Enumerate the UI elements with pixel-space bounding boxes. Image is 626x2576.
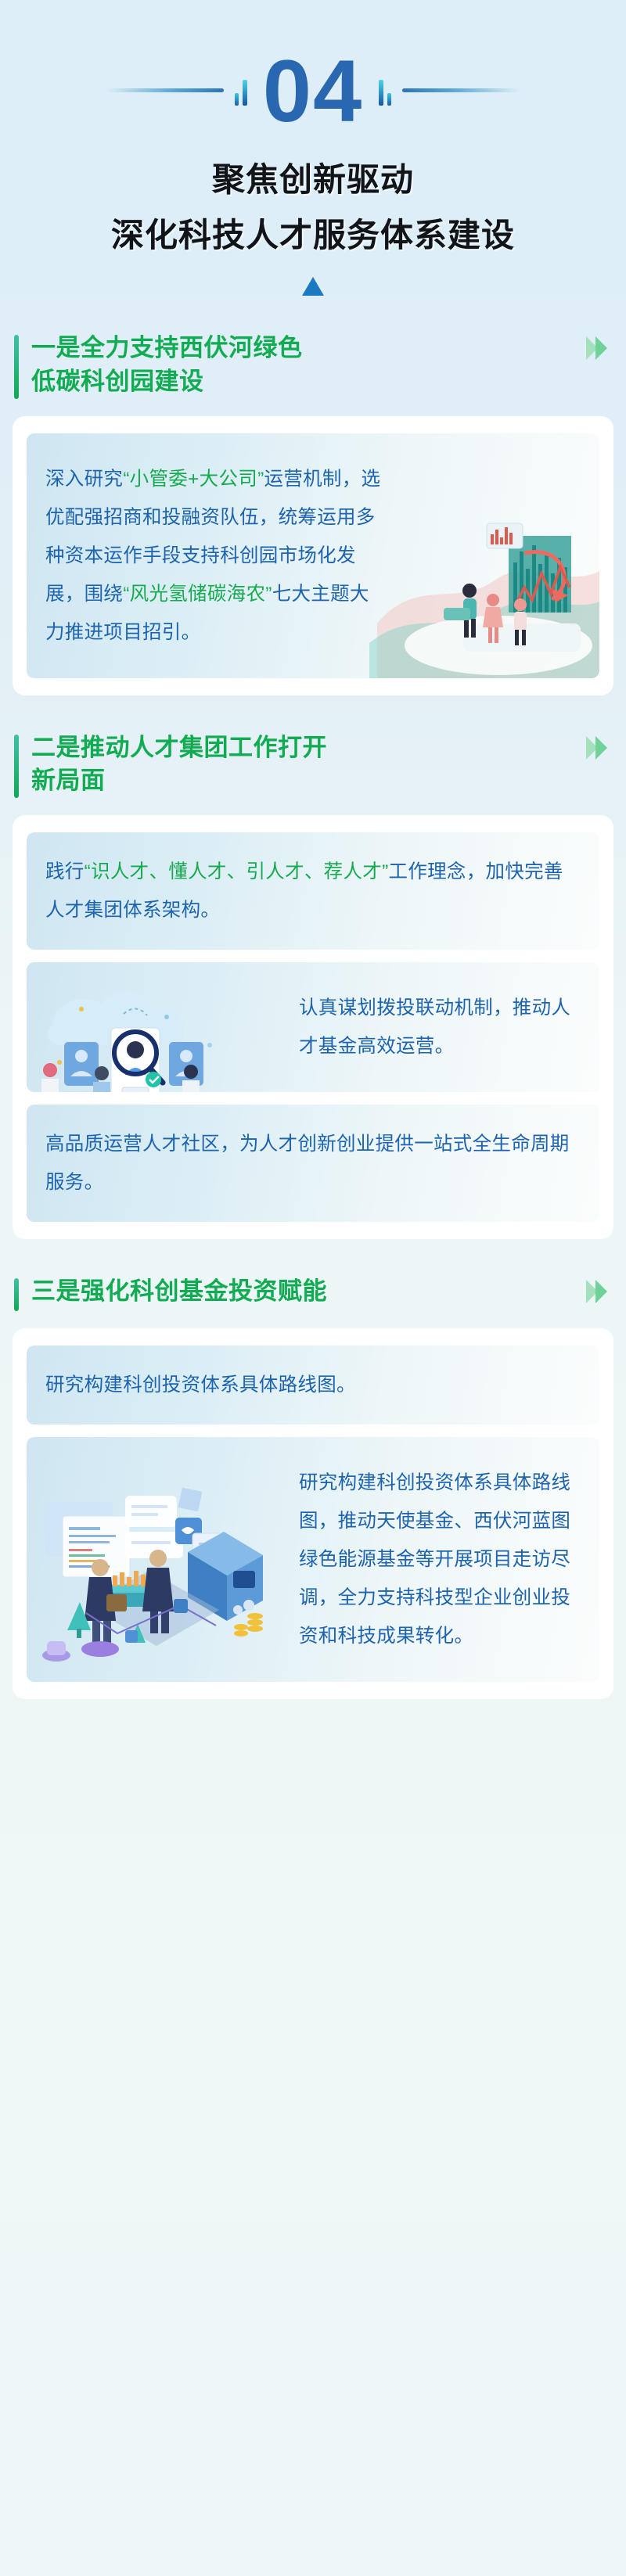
infographic-page: 04 聚焦创新驱动 深化科技人才服务体系建设 一是全力支持西伏河绿色低碳科创园建…	[0, 0, 626, 2576]
card-paragraph: 研究构建科创投资体系具体路线图。	[45, 1366, 581, 1404]
card-paragraph: 认真谋划拨投联动机制，推动人才基金高效运营。	[299, 989, 581, 1065]
page-title-line-1: 聚焦创新驱动	[0, 153, 626, 201]
card-body: 研究构建科创投资体系具体路线图，推动天使基金、西伏河蓝图绿色能源基金等开展项目走…	[27, 1437, 599, 1682]
content-card: 践行“识人才、懂人才、引人才、荐人才”工作理念，加快完善人才集团体系架构。	[27, 832, 599, 950]
section-heading-line-2: 新局面	[31, 764, 586, 798]
highlighted-phrase: “识人才、懂人才、引人才、荐人才”	[85, 861, 389, 882]
card-body: 践行“识人才、懂人才、引人才、荐人才”工作理念，加快完善人才集团体系架构。	[27, 832, 599, 950]
card-body: 深入研究“小管委+大公司”运营机制，选优配强招商和投融资队伍，统筹运用多种资本运…	[27, 433, 599, 678]
triangle-up-icon	[302, 277, 324, 296]
tick-small-icon	[235, 93, 239, 106]
chevron-double-right-icon	[586, 736, 607, 760]
number-decoration-row: 04	[0, 47, 626, 133]
section-heading-line-1: 三是强化科创基金投资赋能	[31, 1275, 586, 1309]
section-heading-line-2: 低碳科创园建设	[31, 365, 586, 399]
body-phrase: 深入研究	[45, 469, 123, 490]
section-heading-text: 一是全力支持西伏河绿色低碳科创园建设	[31, 332, 586, 399]
chevron-double-right-icon	[586, 1280, 607, 1303]
section-heading-text: 二是推动人才集团工作打开新局面	[31, 731, 586, 799]
right-tick-marks	[368, 74, 402, 106]
triangle-divider	[0, 277, 626, 296]
highlighted-phrase: “风光氢储碳海农”	[123, 584, 272, 605]
content-card: 深入研究“小管委+大公司”运营机制，选优配强招商和投融资队伍，统筹运用多种资本运…	[27, 433, 599, 678]
page-title-line-2: 深化科技人才服务体系建设	[0, 209, 626, 257]
card-paragraph: 高品质运营人才社区，为人才创新创业提供一站式全生命周期服务。	[45, 1125, 581, 1202]
right-rule-line	[402, 88, 520, 92]
body-phrase: 研究构建科创投资体系具体路线图。	[45, 1374, 356, 1396]
highlighted-phrase: “小管委+大公司”	[123, 469, 264, 490]
section-header-2: 二是推动人才集团工作打开新局面	[0, 731, 626, 799]
sections-container: 一是全力支持西伏河绿色低碳科创园建设 深入研究“小管委+大公司”运营机制，选优配…	[0, 332, 626, 1699]
card-body: 高品质运营人才社区，为人才创新创业提供一站式全生命周期服务。	[27, 1105, 599, 1222]
chevron-right-icon	[595, 336, 607, 360]
body-phrase: 认真谋划拨投联动机制，推动人才基金高效运营。	[299, 997, 570, 1057]
card-paragraph: 践行“识人才、懂人才、引人才、荐人才”工作理念，加快完善人才集团体系架构。	[45, 853, 581, 929]
hero-header: 04 聚焦创新驱动 深化科技人才服务体系建设	[0, 0, 626, 296]
section-heading-text: 三是强化科创基金投资赋能	[31, 1275, 586, 1309]
section-accent-bar	[14, 335, 19, 399]
tick-large-icon	[379, 80, 383, 106]
content-card: 高品质运营人才社区，为人才创新创业提供一站式全生命周期服务。	[27, 1105, 599, 1222]
content-card: 研究构建科创投资体系具体路线图，推动天使基金、西伏河蓝图绿色能源基金等开展项目走…	[27, 1437, 599, 1682]
left-tick-marks	[224, 74, 258, 106]
body-phrase: 研究构建科创投资体系具体路线图，推动天使基金、西伏河蓝图绿色能源基金等开展项目走…	[299, 1472, 570, 1647]
tick-large-icon	[243, 80, 247, 106]
card-paragraph: 研究构建科创投资体系具体路线图，推动天使基金、西伏河蓝图绿色能源基金等开展项目走…	[299, 1464, 581, 1655]
chevron-double-right-icon	[586, 336, 607, 360]
section-header-1: 一是全力支持西伏河绿色低碳科创园建设	[0, 332, 626, 399]
chevron-right-icon	[595, 1280, 607, 1303]
chevron-right-icon	[595, 736, 607, 760]
card-body: 认真谋划拨投联动机制，推动人才基金高效运营。	[27, 962, 599, 1092]
section-accent-bar	[14, 1278, 19, 1311]
section-panel-2: 践行“识人才、懂人才、引人才、荐人才”工作理念，加快完善人才集团体系架构。 认真…	[13, 815, 613, 1239]
section-panel-3: 研究构建科创投资体系具体路线图。 研究构建科创投资体系具体路线图，推	[13, 1328, 613, 1699]
section-heading-line-1: 一是全力支持西伏河绿色	[31, 332, 586, 365]
section-heading-line-1: 二是推动人才集团工作打开	[31, 731, 586, 765]
card-paragraph: 深入研究“小管委+大公司”运营机制，选优配强招商和投融资队伍，统筹运用多种资本运…	[45, 460, 382, 652]
left-rule-line	[106, 88, 224, 92]
section-accent-bar	[14, 735, 19, 799]
content-card: 研究构建科创投资体系具体路线图。	[27, 1345, 599, 1425]
section-header-3: 三是强化科创基金投资赋能	[0, 1275, 626, 1311]
body-phrase: 高品质运营人才社区，为人才创新创业提供一站式全生命周期服务。	[45, 1134, 570, 1193]
section-panel-1: 深入研究“小管委+大公司”运营机制，选优配强招商和投融资队伍，统筹运用多种资本运…	[13, 416, 613, 695]
section-number: 04	[258, 48, 369, 135]
card-body: 研究构建科创投资体系具体路线图。	[27, 1345, 599, 1425]
tick-small-icon	[387, 93, 391, 106]
body-phrase: 践行	[45, 861, 85, 882]
content-card: 认真谋划拨投联动机制，推动人才基金高效运营。	[27, 962, 599, 1092]
